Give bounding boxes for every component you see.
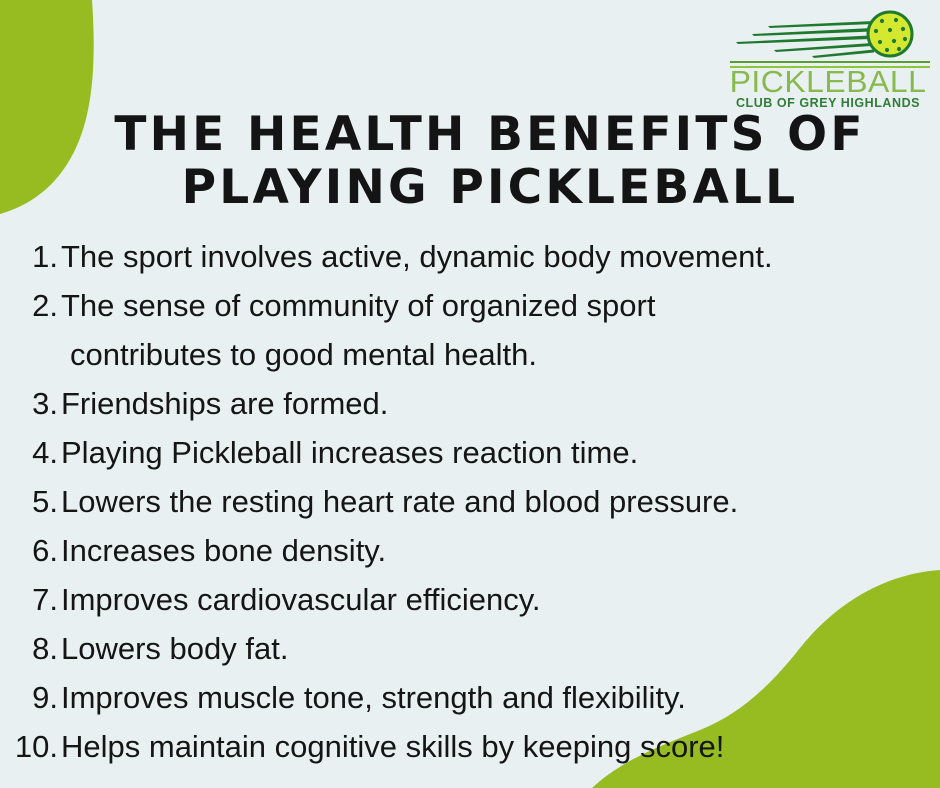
benefit-text: Friendships are formed. (58, 379, 940, 428)
benefit-number: 6. (0, 526, 58, 575)
benefit-item: 9.Improves muscle tone, strength and fle… (0, 673, 940, 722)
page-title-line-1: THE HEALTH BENEFITS OF (60, 108, 920, 161)
benefit-number: 9. (0, 673, 58, 722)
benefit-item: 3.Friendships are formed. (0, 379, 940, 428)
benefit-text: Lowers the resting heart rate and blood … (58, 477, 940, 526)
logo-wordmark: PICKLEBALL (721, 66, 935, 97)
benefit-text: Playing Pickleball increases reaction ti… (58, 428, 940, 477)
benefit-item: 7.Improves cardiovascular efficiency. (0, 575, 940, 624)
benefit-text: The sense of community of organized spor… (58, 281, 940, 330)
page-title-line-2: PLAYING PICKLEBALL (60, 161, 920, 214)
benefit-item: 5.Lowers the resting heart rate and bloo… (0, 477, 940, 526)
benefit-number: 2. (0, 281, 58, 330)
benefit-item: 8.Lowers body fat. (0, 624, 940, 673)
benefit-number: 10. (0, 722, 58, 771)
benefit-text: Lowers body fat. (58, 624, 940, 673)
benefit-item: 10.Helps maintain cognitive skills by ke… (0, 722, 940, 771)
benefit-text: Helps maintain cognitive skills by keepi… (58, 722, 940, 771)
benefit-number: 1. (0, 232, 58, 281)
club-logo: PICKLEBALL CLUB OF GREY HIGHLANDS (724, 8, 932, 106)
benefit-text: Improves muscle tone, strength and flexi… (58, 673, 940, 722)
benefit-item: 4.Playing Pickleball increases reaction … (0, 428, 940, 477)
benefit-text: Improves cardiovascular efficiency. (58, 575, 940, 624)
benefit-number: 8. (0, 624, 58, 673)
motion-streak-lines (736, 21, 874, 58)
benefits-list: 1.The sport involves active, dynamic bod… (0, 232, 940, 771)
benefit-item: 1.The sport involves active, dynamic bod… (0, 232, 940, 281)
page-title: THE HEALTH BENEFITS OF PLAYING PICKLEBAL… (60, 108, 920, 214)
benefit-number: 3. (0, 379, 58, 428)
benefit-item: 6.Increases bone density. (0, 526, 940, 575)
benefit-text: The sport involves active, dynamic body … (58, 232, 940, 281)
benefit-number: 5. (0, 477, 58, 526)
pickleball-ball-icon (724, 8, 932, 60)
benefit-text-continuation: contributes to good mental health. (0, 330, 940, 379)
ball-body (868, 12, 912, 56)
benefit-item: 2.The sense of community of organized sp… (0, 281, 940, 330)
benefit-number: 4. (0, 428, 58, 477)
benefit-text: Increases bone density. (58, 526, 940, 575)
poster-canvas: PICKLEBALL CLUB OF GREY HIGHLANDS THE HE… (0, 0, 940, 788)
benefit-number: 7. (0, 575, 58, 624)
